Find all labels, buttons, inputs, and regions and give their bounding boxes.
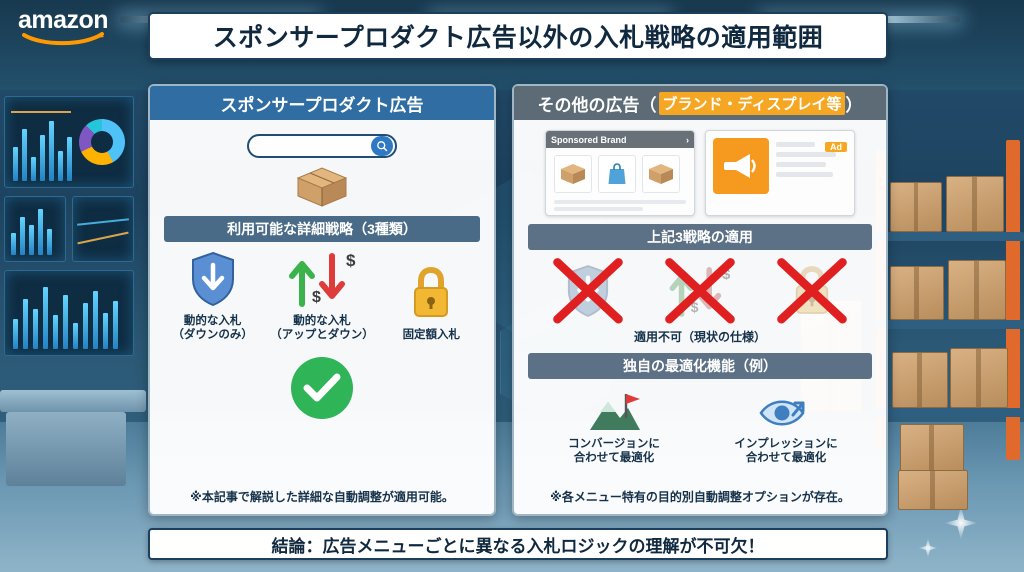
amazon-logo: amazon	[18, 6, 108, 35]
left-footnote: ※本記事で解説した詳細な自動調整が適用可能。	[150, 488, 494, 505]
crossed-shield-item	[551, 258, 625, 324]
dashboard-panel	[4, 196, 66, 262]
right-section-header-2-text: 独自の最適化機能（例）	[623, 356, 777, 376]
display-ad-card-icon: Ad	[705, 130, 855, 216]
warehouse-box	[950, 348, 1008, 408]
shelf	[876, 408, 1024, 417]
shield-down-arrow-icon	[161, 248, 265, 310]
search-icon	[371, 136, 393, 156]
crossed-strategy-list: $ $	[532, 258, 868, 324]
megaphone-icon	[713, 138, 769, 194]
chevron-right-icon: ›	[686, 135, 689, 145]
desk	[0, 390, 146, 412]
right-footnote: ※各メニュー特有の目的別自動調整オプションが存在。	[514, 488, 886, 505]
strategy-label-line1: 固定額入札	[379, 328, 483, 342]
warehouse-box	[892, 352, 948, 408]
right-section-header-1-text: 上記3戦略の適用	[647, 227, 753, 247]
ad-badge: Ad	[825, 142, 847, 152]
option-label-line1: インプレッションに	[711, 437, 861, 451]
flag-mountain-icon	[539, 387, 689, 435]
shelf	[876, 320, 1024, 329]
up-down-dollar-arrows-icon: $ $	[270, 248, 374, 310]
eye-growth-icon	[711, 387, 861, 435]
status-badge: ブランド・ディスプレイ等	[659, 92, 846, 115]
panel-sponsored-products: スポンサープロダクト広告 利用可能な詳細戦略（3種類）	[148, 84, 496, 516]
panel-other-ads: その他の広告 （ ブランド・ディスプレイ等 ） Sponsored Brand …	[512, 84, 888, 516]
warehouse-box	[898, 470, 968, 510]
red-cross-icon	[549, 256, 627, 326]
warehouse-box	[890, 266, 944, 320]
strategy-list: 動的な入札 （ダウンのみ） $ $ 動的な入札 （アップとダウン）	[158, 248, 486, 343]
red-cross-icon	[773, 256, 851, 326]
crossed-padlock-item	[775, 258, 849, 324]
left-section-header: 利用可能な詳細戦略（3種類）	[164, 216, 480, 242]
strategy-item-up-and-down: $ $ 動的な入札 （アップとダウン）	[270, 248, 374, 343]
option-label-line2: 合わせて最適化	[539, 451, 689, 465]
crossed-updown-item: $ $	[663, 258, 737, 324]
left-column-header: スポンサープロダクト広告	[150, 86, 494, 120]
amazon-smile-icon	[22, 32, 106, 46]
padlock-icon	[379, 262, 483, 324]
sponsored-brand-label: Sponsored Brand	[551, 135, 627, 145]
red-cross-icon	[661, 256, 739, 326]
page-title-text: スポンサープロダクト広告以外の入札戦略の適用範囲	[213, 18, 824, 54]
dashboard-panel	[4, 270, 134, 356]
green-check-icon	[291, 357, 353, 419]
search-input[interactable]	[247, 134, 397, 158]
strategy-label-line1: 動的な入札	[270, 314, 374, 328]
svg-text:$: $	[346, 251, 356, 270]
product-thumb-box2-icon	[642, 155, 680, 193]
warehouse-box	[890, 182, 942, 232]
right-section-header-1: 上記3戦略の適用	[528, 224, 872, 250]
strategy-label-line1: 動的な入札	[161, 314, 265, 328]
option-label-line1: コンバージョンに	[539, 437, 689, 451]
right-section-header-2: 独自の最適化機能（例）	[528, 353, 872, 379]
desk-cabinet	[6, 412, 126, 486]
package-icon	[296, 166, 348, 208]
right-column-header-paren-close: ）	[845, 91, 862, 116]
ad-examples: Sponsored Brand ›	[514, 130, 886, 216]
shelf	[876, 232, 1024, 241]
right-column-header-text: その他の広告	[538, 91, 640, 116]
dashboard-panel	[72, 196, 134, 262]
conclusion-text: 結論：広告メニューごとに異なる入札ロジックの理解が不可欠！	[272, 532, 765, 557]
strategy-label-line2: （ダウンのみ）	[161, 328, 265, 342]
product-thumb-box-icon	[554, 155, 592, 193]
svg-text:$: $	[312, 289, 321, 306]
page-title: スポンサープロダクト広告以外の入札戦略の適用範囲	[148, 12, 888, 60]
option-conversion: コンバージョンに 合わせて最適化	[539, 387, 689, 466]
optimization-options: コンバージョンに 合わせて最適化 インプレッションに 合わせて最適化	[528, 387, 872, 466]
conclusion-bar: 結論：広告メニューごとに異なる入札ロジックの理解が不可欠！	[148, 528, 888, 560]
option-impression: インプレッションに 合わせて最適化	[711, 387, 861, 466]
right-column-header: その他の広告 （ ブランド・ディスプレイ等 ）	[514, 86, 886, 120]
sponsored-brand-card-icon: Sponsored Brand ›	[545, 130, 695, 216]
left-column-header-text: スポンサープロダクト広告	[221, 91, 424, 116]
left-section-header-text: 利用可能な詳細戦略（3種類）	[227, 219, 417, 239]
strategy-label-line2: （アップとダウン）	[270, 328, 374, 342]
option-label-line2: 合わせて最適化	[711, 451, 861, 465]
right-column-header-paren-open: （	[640, 91, 657, 116]
product-thumb-bag-icon	[598, 155, 636, 193]
strategy-item-dynamic-down: 動的な入札 （ダウンのみ）	[161, 248, 265, 343]
warehouse-box	[946, 176, 1004, 232]
slide-canvas: amazon スポンサープロダクト広告以外の入札戦略の適用範囲 スポンサープロダ…	[0, 0, 1024, 572]
not-applicable-note: 適用不可（現状の仕様）	[514, 328, 886, 345]
warehouse-box	[948, 260, 1006, 320]
dashboard-panel	[4, 96, 134, 188]
warehouse-box	[900, 424, 964, 472]
strategy-item-fixed: 固定額入札	[379, 262, 483, 342]
